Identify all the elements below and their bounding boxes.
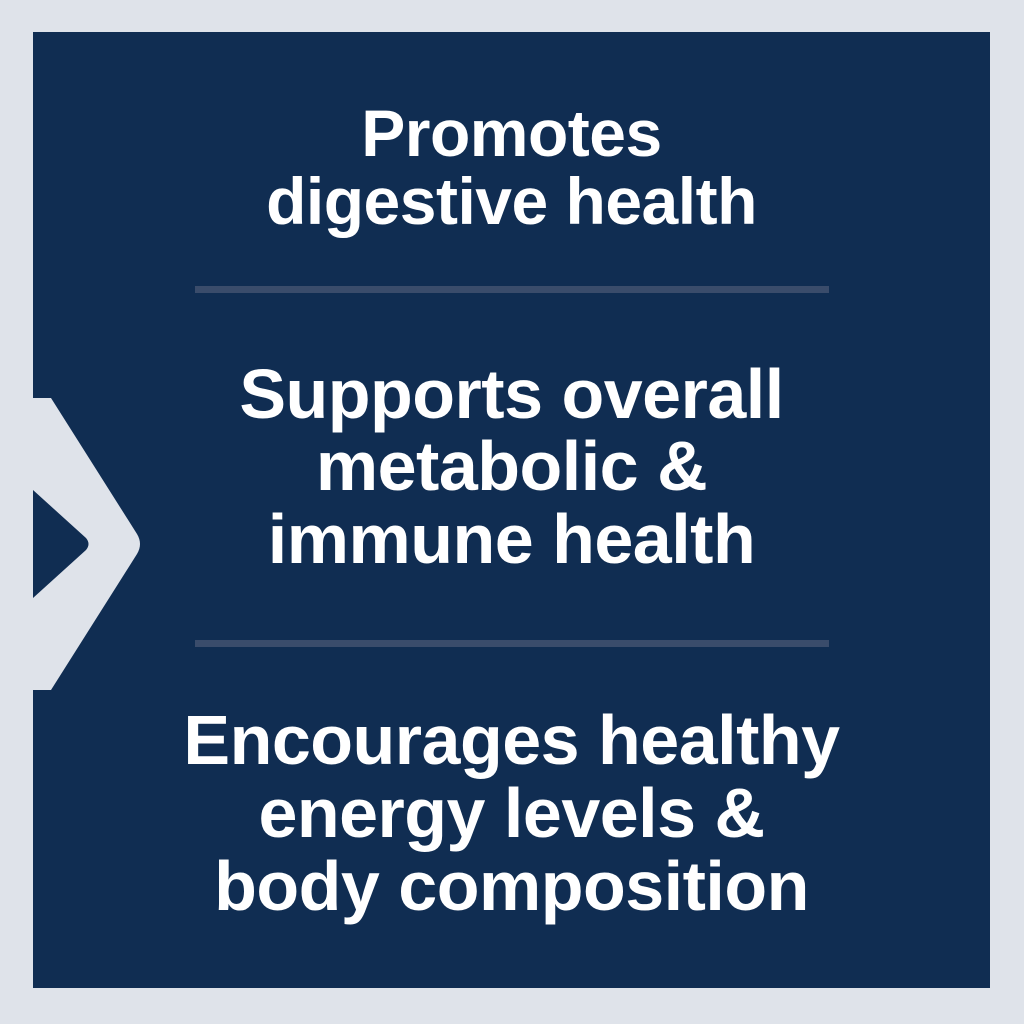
benefit-item-energy-body-composition: Encourages healthy energy levels & body … — [33, 647, 990, 988]
benefits-list: Promotes digestive health Supports overa… — [33, 32, 990, 988]
benefit-item-digestive-health: Promotes digestive health — [33, 32, 990, 286]
screenshot-canvas: Promotes digestive health Supports overa… — [0, 0, 1024, 1024]
benefit-item-metabolic-immune-health: Supports overall metabolic & immune heal… — [33, 293, 990, 640]
benefit-divider-2 — [195, 640, 829, 647]
product-benefits-panel: Promotes digestive health Supports overa… — [33, 32, 990, 988]
benefit-divider-1 — [195, 286, 829, 293]
